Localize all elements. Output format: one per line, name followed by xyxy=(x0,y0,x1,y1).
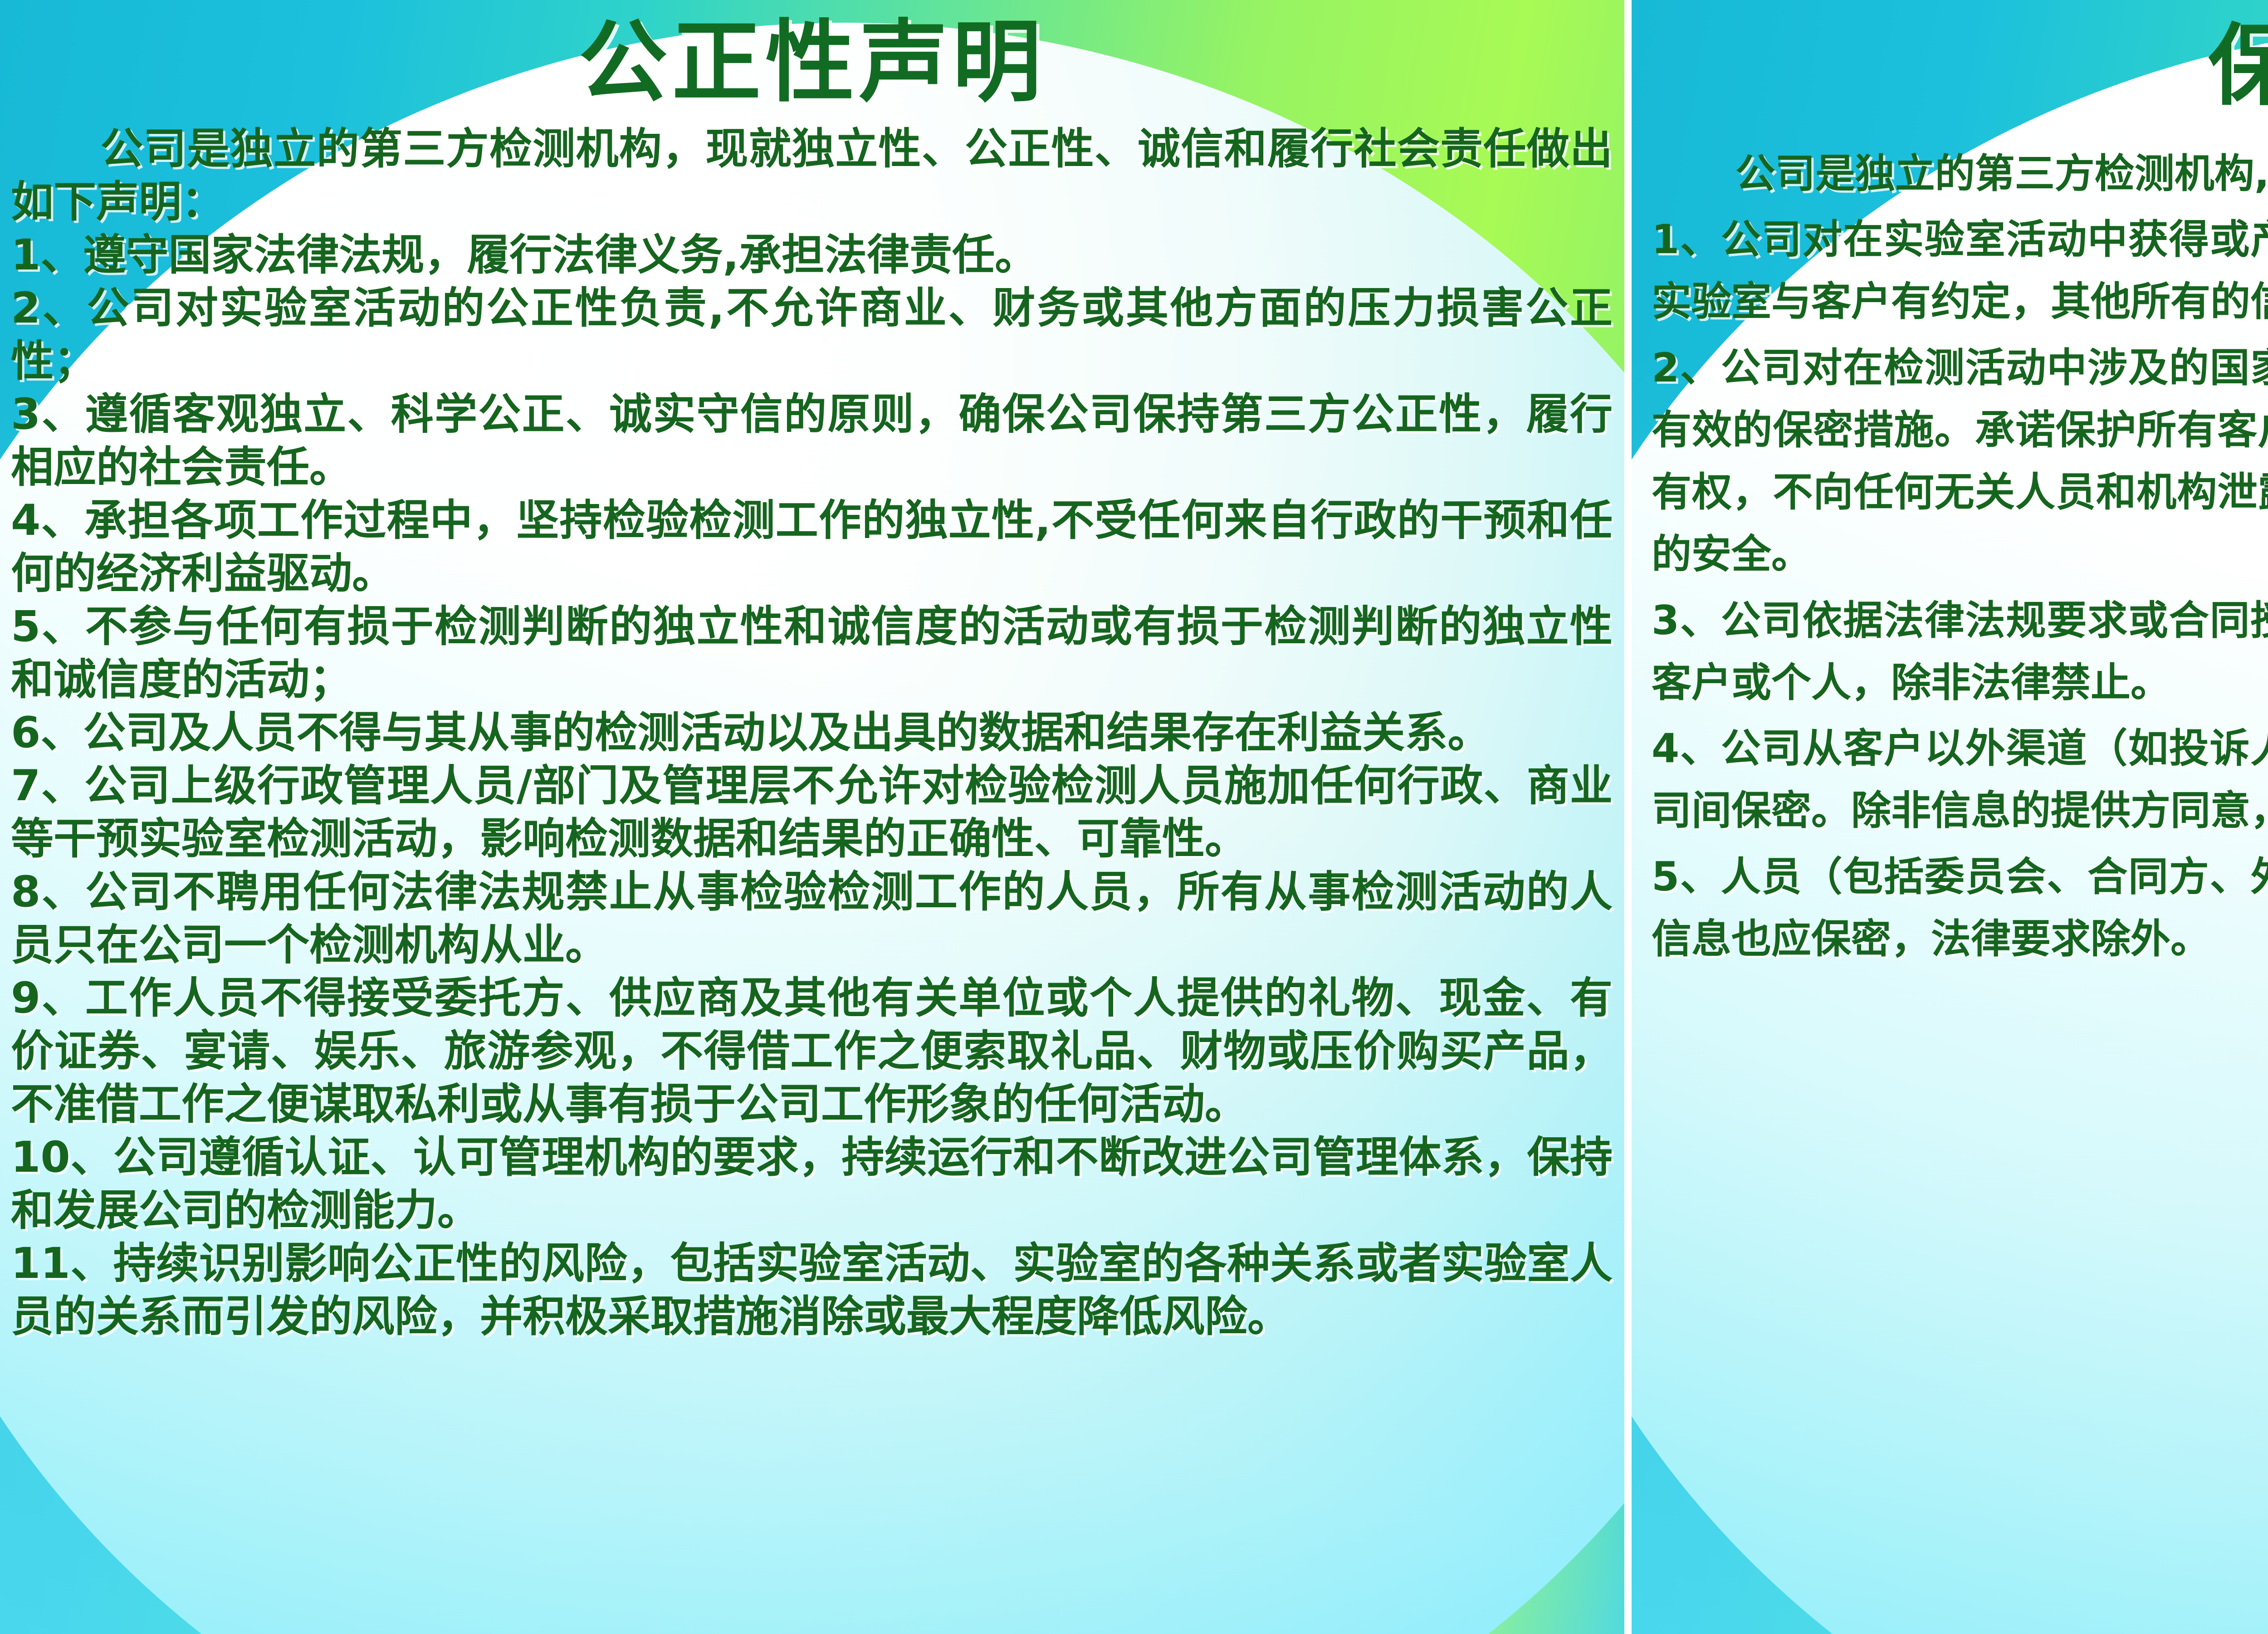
list-item: 3、遵循客观独立、科学公正、诚实守信的原则，确保公司保持第三方公正性，履行相应的… xyxy=(11,388,1613,494)
panel-confidentiality-statement: 保密性声明 公司是独立的第三方检测机构,现就保密性做出如下声明： 1、公司对在实… xyxy=(1632,0,2268,1634)
page-title-impartiality: 公正性声明 xyxy=(0,0,1624,114)
panel-divider xyxy=(1624,0,1632,1634)
list-item: 6、公司及人员不得与其从事的检测活动以及出具的数据和结果存在利益关系。 xyxy=(11,706,1613,759)
list-item: 1、遵守国家法律法规，履行法律义务,承担法律责任。 xyxy=(11,229,1613,282)
list-item: 4、承担各项工作过程中，坚持检验检测工作的独立性,不受任何来自行政的干预和任何的… xyxy=(11,494,1613,600)
list-item: 8、公司不聘用任何法律法规禁止从事检验检测工作的人员，所有从事检测活动的人员只在… xyxy=(11,866,1613,972)
panel-content-left: 公正性声明 公司是独立的第三方检测机构，现就独立性、公正性、诚信和履行社会责任做… xyxy=(0,0,1624,1634)
panel-content-right: 保密性声明 公司是独立的第三方检测机构,现就保密性做出如下声明： 1、公司对在实… xyxy=(1632,0,2268,1634)
list-item: 7、公司上级行政管理人员/部门及管理层不允许对检验检测人员施加任何行政、商业等干… xyxy=(11,759,1613,866)
list-item: 4、公司从客户以外渠道（如投诉人、监管机构）获取有关客户的信息时，应在客户和公司… xyxy=(1652,717,2268,842)
list-item: 1、公司对在实验室活动中获得或产生的所有信息承担管理责任。除客户公开的信息，或实… xyxy=(1652,208,2268,333)
intro-paragraph-left: 公司是独立的第三方检测机构，现就独立性、公正性、诚信和履行社会责任做出如下声明： xyxy=(11,122,1613,229)
list-item: 5、人员（包括委员会、合同方、外部析物人员）在实施实验室活动中获得或产生的所有信… xyxy=(1652,846,2268,970)
page-title-confidentiality: 保密性声明 xyxy=(1632,0,2268,118)
intro-paragraph-right: 公司是独立的第三方检测机构,现就保密性做出如下声明： xyxy=(1652,142,2268,205)
body-text-confidentiality: 公司是独立的第三方检测机构,现就保密性做出如下声明： 1、公司对在实验室活动中获… xyxy=(1632,118,2268,970)
list-item: 5、不参与任何有损于检测判断的独立性和诚信度的活动或有损于检测判断的独立性和诚信… xyxy=(11,600,1613,706)
list-item: 9、工作人员不得接受委托方、供应商及其他有关单位或个人提供的礼物、现金、有价证券… xyxy=(11,972,1613,1131)
list-item: 10、公司遵循认证、认可管理机构的要求，持续运行和不断改进公司管理体系，保持和发… xyxy=(11,1131,1613,1237)
panel-impartiality-statement: 公正性声明 公司是独立的第三方检测机构，现就独立性、公正性、诚信和履行社会责任做… xyxy=(0,0,1624,1634)
list-item: 2、公司对在检测活动中涉及的国家秘密、商业秘密和技术秘密负有保密义务，制定实施有… xyxy=(1652,337,2268,586)
poster-root: 公正性声明 公司是独立的第三方检测机构，现就独立性、公正性、诚信和履行社会责任做… xyxy=(0,0,2268,1634)
list-item: 3、公司依据法律法规要求或合同授权透露保密信息时，应将所提供的信息通知到相关的客… xyxy=(1652,589,2268,714)
list-item: 2、公司对实验室活动的公正性负责,不允许商业、财务或其他方面的压力损害公正性； xyxy=(11,282,1613,388)
list-item: 11、持续识别影响公正性的风险，包括实验室活动、实验室的各种关系或者实验室人员的… xyxy=(11,1237,1613,1343)
body-text-impartiality: 公司是独立的第三方检测机构，现就独立性、公正性、诚信和履行社会责任做出如下声明：… xyxy=(0,114,1624,1343)
